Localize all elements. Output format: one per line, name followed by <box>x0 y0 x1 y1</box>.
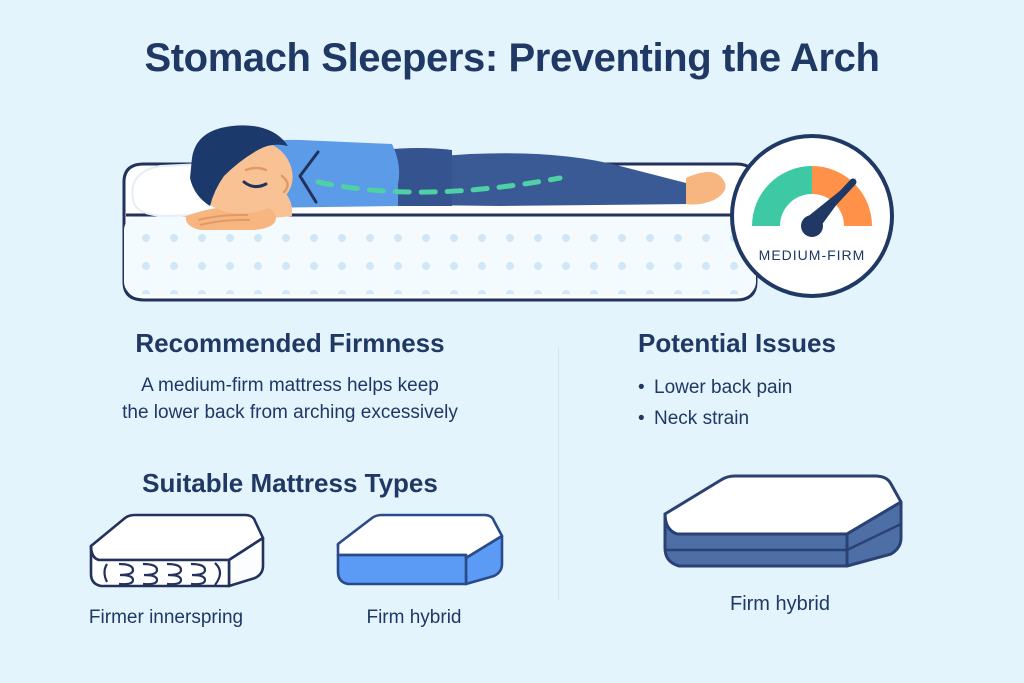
mattress-types-heading: Suitable Mattress Types <box>40 468 540 499</box>
recommended-firmness-line1: A medium-firm mattress helps keep <box>40 373 540 400</box>
firm-hybrid-mattress-icon <box>635 468 925 578</box>
innerspring-mattress-icon <box>59 508 274 594</box>
list-item-label: Neck strain <box>654 408 749 429</box>
firmness-gauge: MEDIUM-FIRM <box>732 136 892 296</box>
mattress-type-caption: Firm hybrid <box>299 607 529 629</box>
page-title: Stomach Sleepers: Preventing the Arch <box>0 36 1024 81</box>
list-item: • Lower back pain <box>638 373 990 404</box>
bullet-glyph: • <box>638 404 645 435</box>
mattress-type-caption: Firmer innerspring <box>51 607 281 629</box>
potential-issues-section: Potential Issues • Lower back pain • Nec… <box>580 328 990 435</box>
hero-illustration: MEDIUM-FIRM <box>0 120 1024 315</box>
mattress-types-row: Firmer innerspring Firm hybrid <box>40 508 540 629</box>
list-item: • Neck strain <box>638 404 990 435</box>
recommended-mattress-caption: Firm hybrid <box>580 593 980 616</box>
infographic-root: Stomach Sleepers: Preventing the Arch <box>0 0 1024 683</box>
gauge-label: MEDIUM-FIRM <box>759 247 866 263</box>
recommended-firmness-line2: the lower back from arching excessively <box>40 400 540 427</box>
recommended-firmness-heading: Recommended Firmness <box>40 328 540 359</box>
column-divider <box>558 348 559 600</box>
bullet-glyph: • <box>638 373 645 404</box>
potential-issues-heading: Potential Issues <box>580 328 990 359</box>
recommended-mattress: Firm hybrid <box>580 468 980 616</box>
mattress-type-innerspring: Firmer innerspring <box>51 508 281 629</box>
hybrid-mattress-icon <box>314 508 514 594</box>
potential-issues-list: • Lower back pain • Neck strain <box>580 373 990 435</box>
mattress-type-hybrid: Firm hybrid <box>299 508 529 629</box>
recommended-firmness-section: Recommended Firmness A medium-firm mattr… <box>40 328 540 427</box>
list-item-label: Lower back pain <box>654 377 792 398</box>
